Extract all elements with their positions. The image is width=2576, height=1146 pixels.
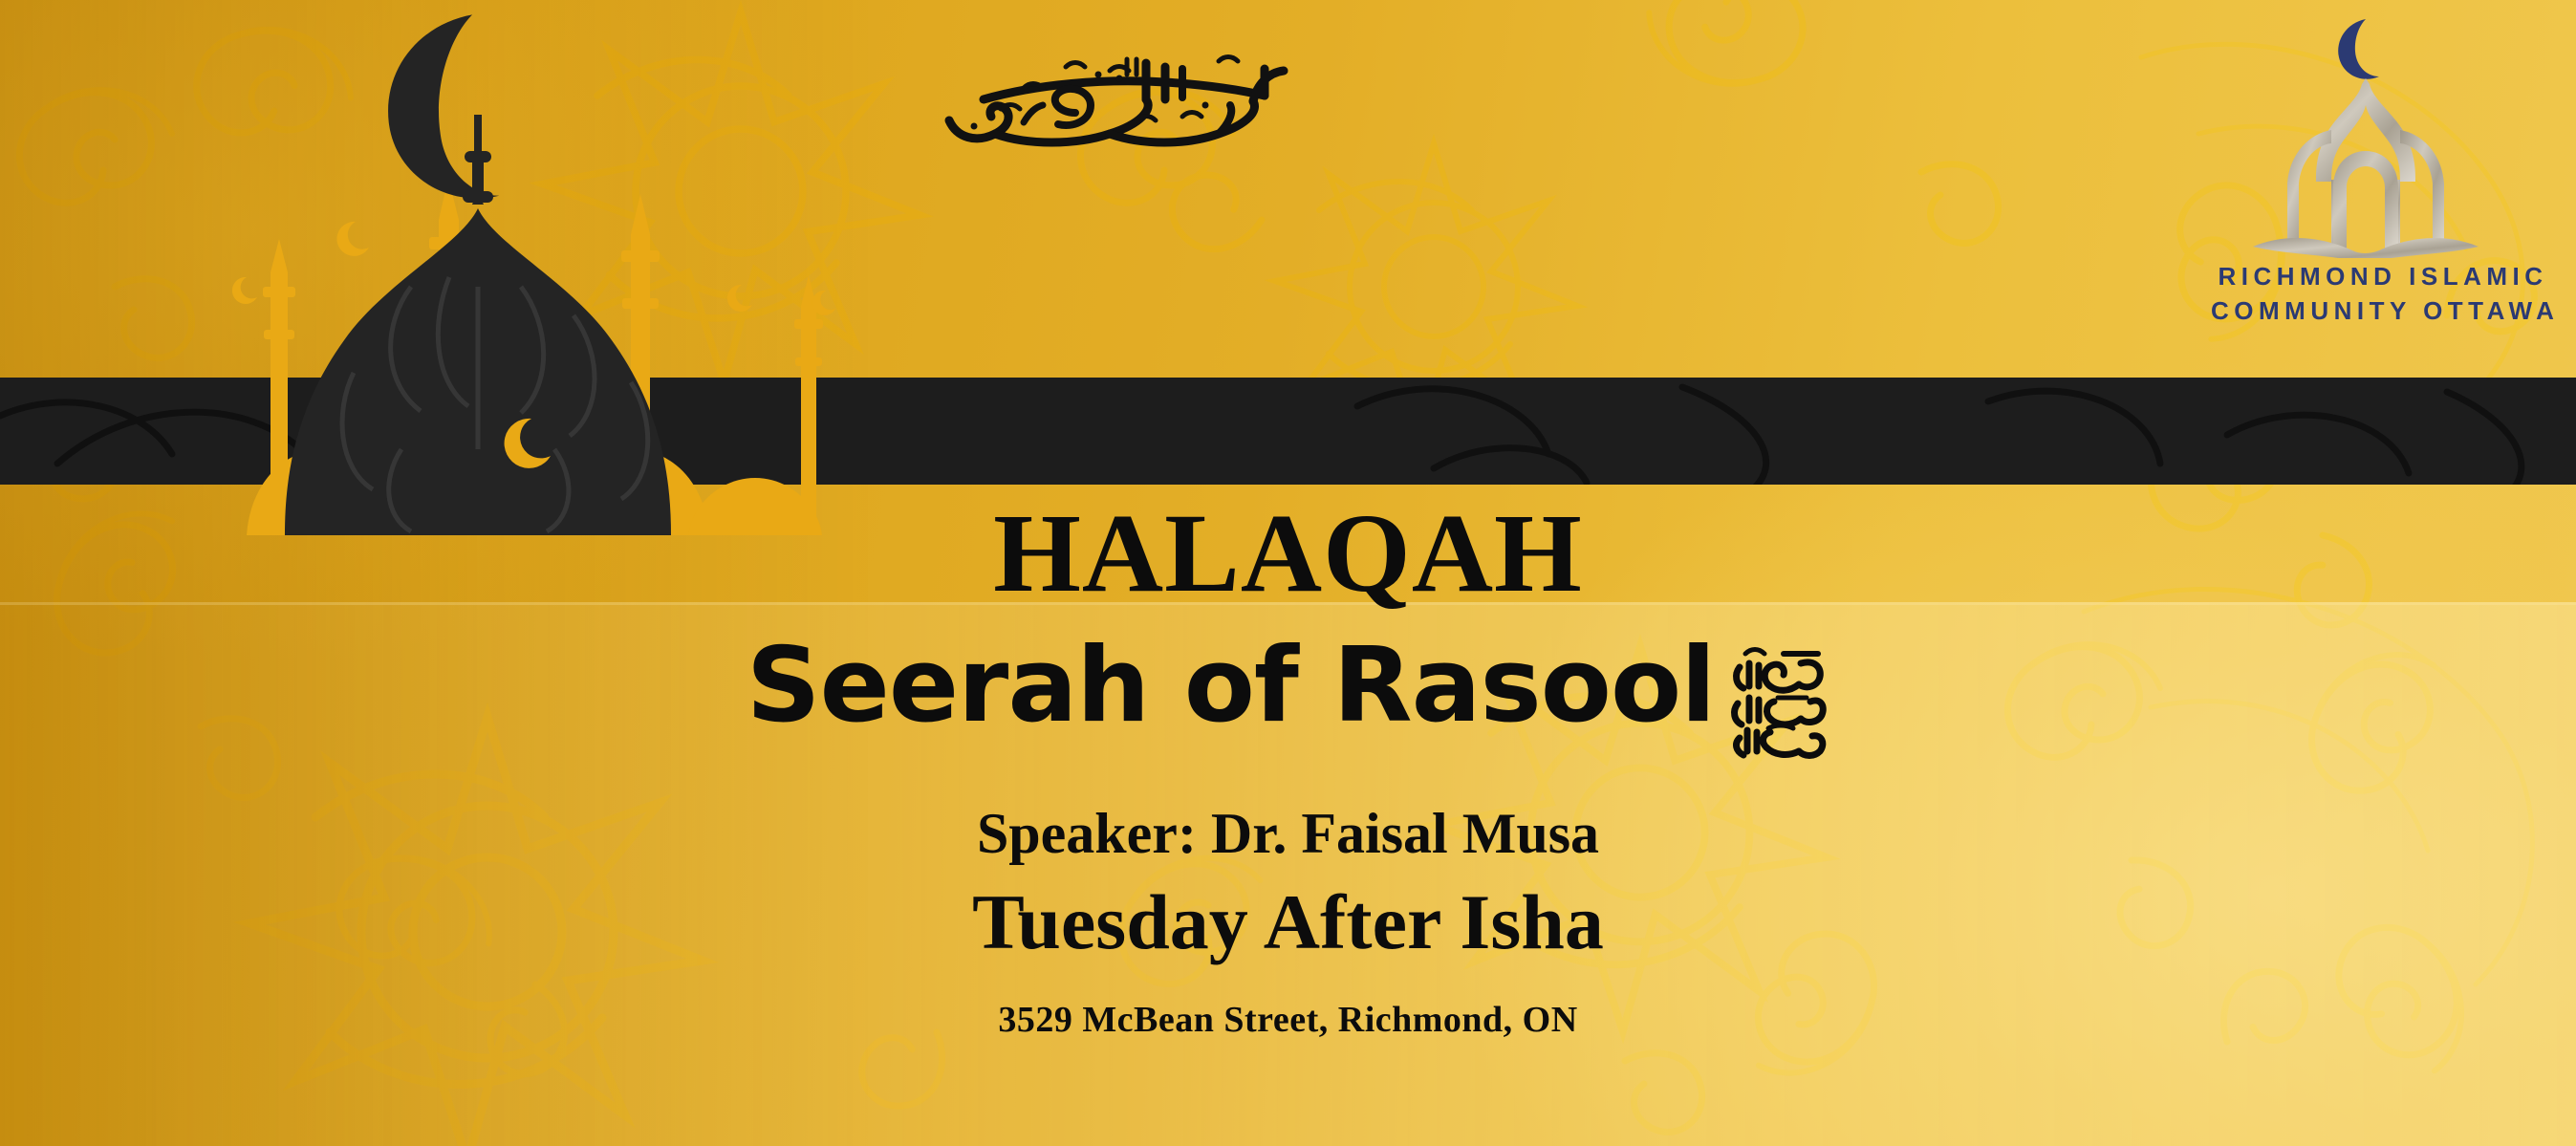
speaker-line: Speaker: Dr. Faisal Musa bbox=[0, 805, 2576, 862]
address-line: 3529 McBean Street, Richmond, ON bbox=[0, 1002, 2576, 1038]
mosque-silhouette bbox=[0, 0, 956, 535]
main-dome bbox=[285, 208, 671, 535]
crescent-finial-icon bbox=[388, 14, 499, 205]
crescent-moon-icon bbox=[2338, 19, 2379, 79]
organization-logo[interactable]: RICHMOND ISLAMIC COMMUNITY OTTAWA bbox=[2211, 10, 2555, 344]
page-title: HALAQAH bbox=[0, 497, 2576, 610]
event-details: HALAQAH Seerah of Rasool bbox=[0, 497, 2576, 1038]
event-flyer: RICHMOND ISLAMIC COMMUNITY OTTAWA HALAQA… bbox=[0, 0, 2576, 1146]
mosque-outline bbox=[2253, 78, 2479, 258]
bismillah-calligraphy bbox=[932, 46, 1314, 161]
subtitle-row: Seerah of Rasool bbox=[0, 635, 2576, 761]
event-subtitle: Seerah of Rasool bbox=[747, 635, 1715, 738]
schedule-line: Tuesday After Isha bbox=[0, 883, 2576, 962]
logo-line-1: RICHMOND ISLAMIC bbox=[2211, 260, 2555, 292]
logo-line-2: COMMUNITY OTTAWA bbox=[2211, 294, 2555, 327]
sallallahu-alayhi-wasallam-icon bbox=[1726, 638, 1829, 761]
mosque-dome-logo-icon bbox=[2240, 10, 2526, 258]
